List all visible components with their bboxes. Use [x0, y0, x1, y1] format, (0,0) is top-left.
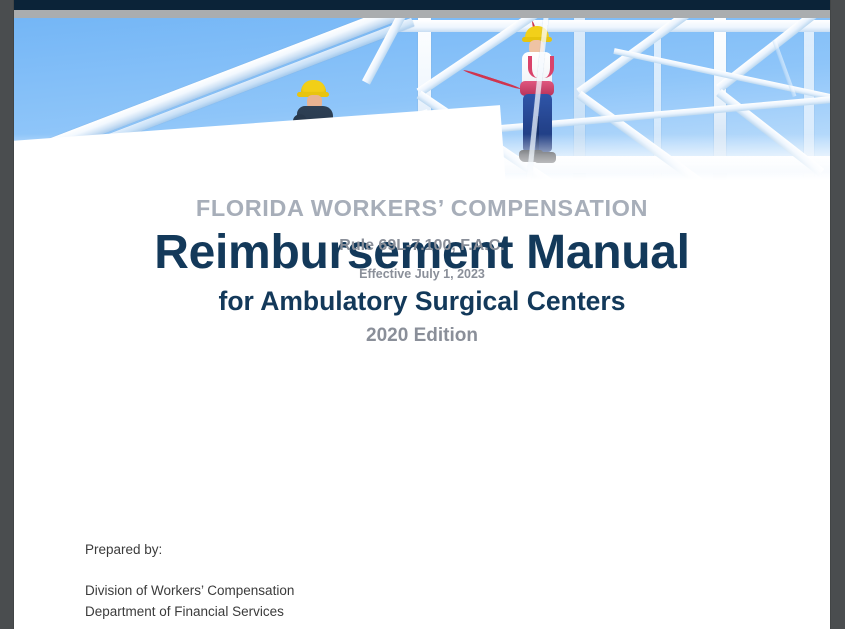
- steel-top-chord: [394, 20, 830, 32]
- cover-rule-citation: Rule 69L-7.100, F.A.C.: [14, 237, 830, 255]
- page-top-navy-band: [14, 0, 830, 10]
- cover-edition: 2020 Edition: [14, 325, 830, 347]
- cover-subtitle: for Ambulatory Surgical Centers: [14, 286, 830, 318]
- cover-hero-image: [14, 18, 830, 180]
- prepared-by-line: Division of Workers’ Compensation: [85, 581, 294, 602]
- prepared-by-block: Prepared by: Division of Workers’ Compen…: [85, 540, 294, 623]
- page-top-gray-band: [14, 10, 830, 18]
- cover-effective-date: Effective July 1, 2023: [14, 267, 830, 281]
- image-bottom-fade: [14, 134, 830, 180]
- cover-eyebrow: FLORIDA WORKERS’ COMPENSATION: [14, 196, 830, 222]
- document-page: FLORIDA WORKERS’ COMPENSATION Reimbursem…: [14, 0, 830, 629]
- prepared-by-line: Department of Financial Services: [85, 602, 294, 623]
- prepared-by-label: Prepared by:: [85, 540, 294, 561]
- pdf-viewer: FLORIDA WORKERS’ COMPENSATION Reimbursem…: [0, 0, 845, 629]
